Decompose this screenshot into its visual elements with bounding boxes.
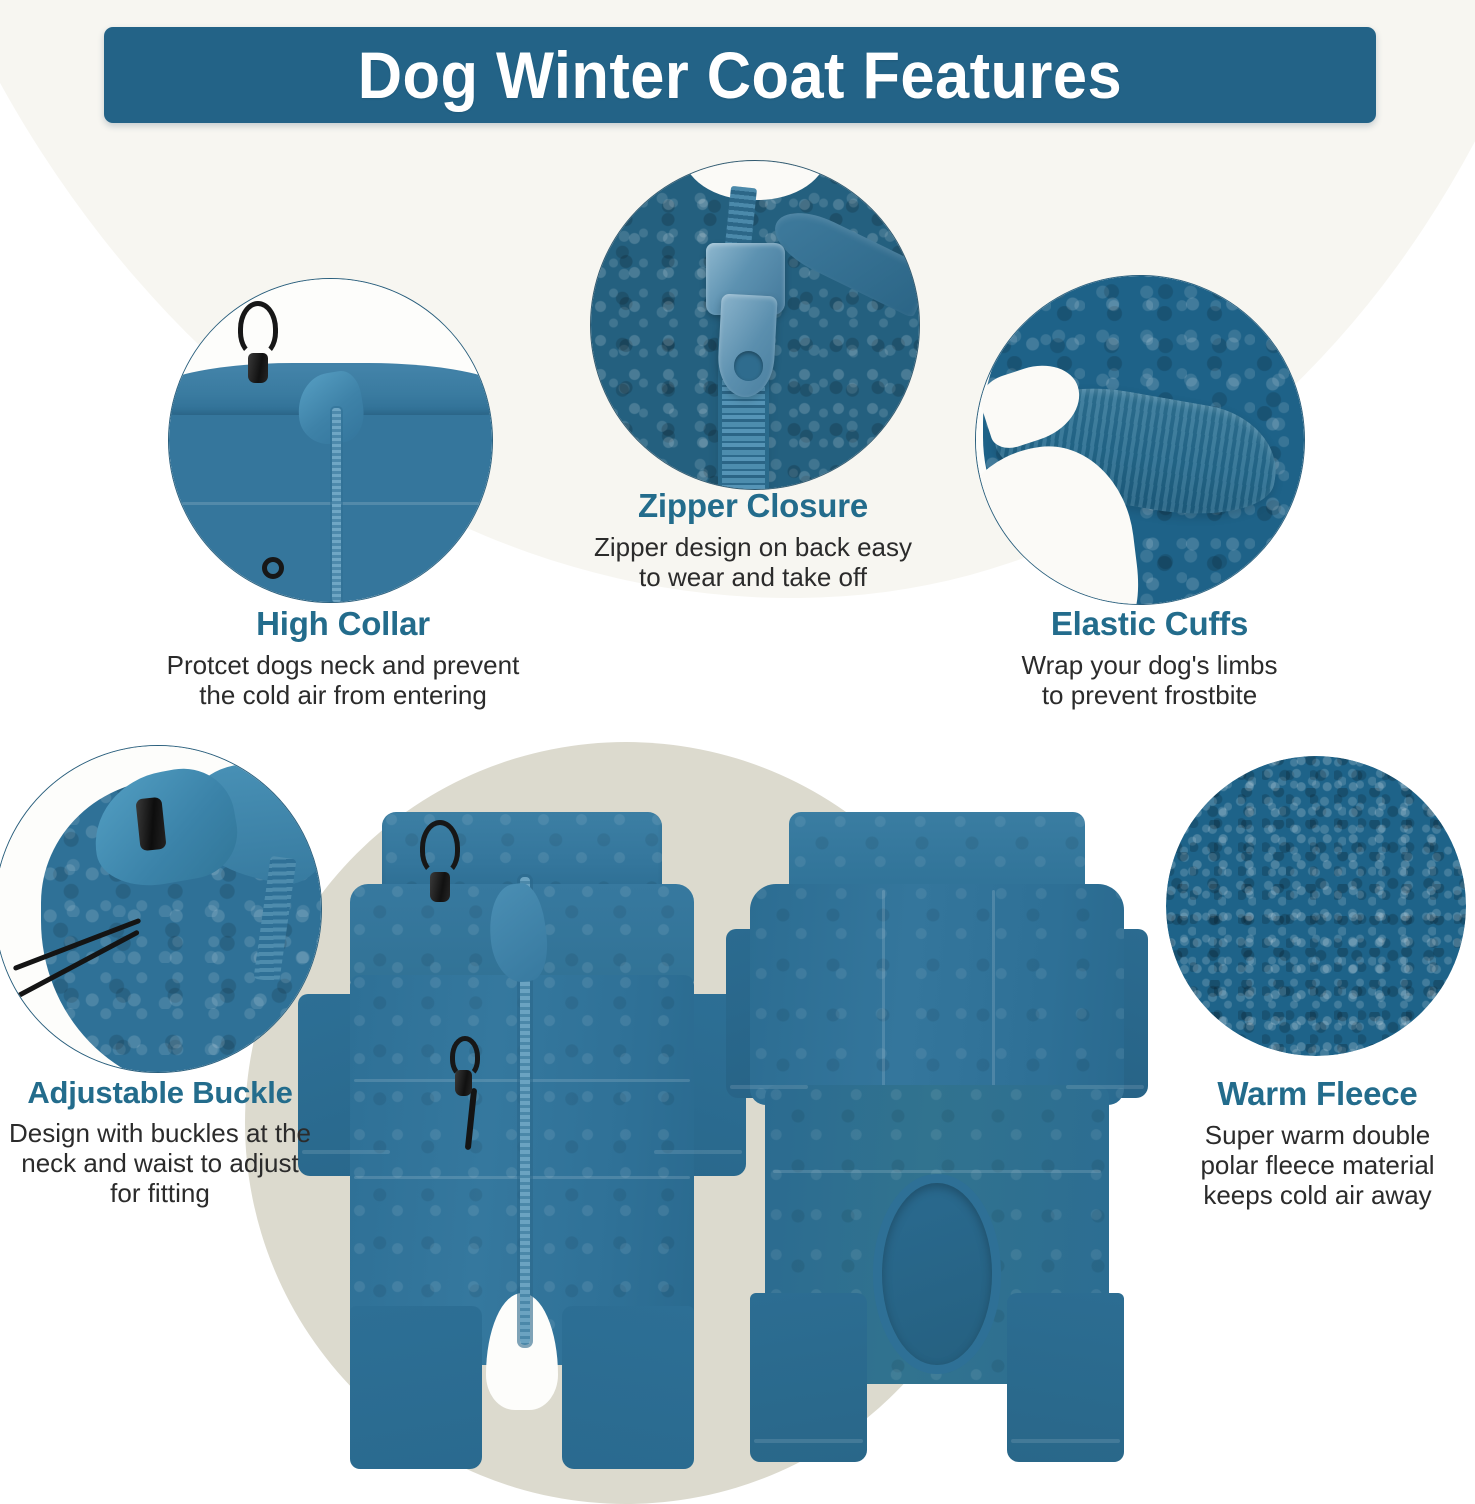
neck-cord-lock-toggle <box>430 872 450 902</box>
feature-desc-line-2: neck and waist to adjust <box>4 1148 316 1178</box>
zipper-track-icon <box>332 408 341 602</box>
feature-image-high-collar <box>168 278 493 603</box>
feature-desc-line-2: to prevent frostbite <box>962 680 1337 710</box>
back-left-cuff-line <box>730 1085 808 1089</box>
back-seam-right <box>992 890 995 1098</box>
lower-cord-loop <box>262 557 284 579</box>
feature-image-warm-fleece <box>1166 756 1466 1056</box>
feature-desc-line-3: for fitting <box>4 1178 316 1208</box>
front-left-leg <box>350 1306 482 1469</box>
back-right-leg-cuff <box>1011 1439 1120 1443</box>
feature-title-warm-fleece: Warm Fleece <box>1160 1075 1475 1113</box>
feature-title-zipper-closure: Zipper Closure <box>548 487 958 525</box>
zipper-pull-hole <box>734 351 764 381</box>
collar-seam <box>182 502 479 505</box>
neck-drawstring-loop <box>420 820 460 876</box>
back-seam-left <box>882 890 885 1098</box>
feature-desc-line-1: Design with buckles at the <box>4 1118 316 1148</box>
back-right-cuff-line <box>1066 1085 1144 1089</box>
front-right-leg <box>562 1306 694 1469</box>
feature-title-adjustable-buckle: Adjustable Buckle <box>4 1075 316 1111</box>
page-title: Dog Winter Coat Features <box>358 37 1122 113</box>
back-left-leg <box>750 1293 867 1462</box>
back-rear-opening <box>882 1183 991 1365</box>
feature-desc-line-2: the cold air from entering <box>133 680 553 710</box>
back-shoulder-panel <box>750 884 1124 1105</box>
feature-title-elastic-cuffs: Elastic Cuffs <box>962 605 1337 643</box>
back-waist-seam <box>773 1170 1101 1173</box>
fleece-texture-photo <box>1166 756 1466 1056</box>
feature-desc-line-2: polar fleece material <box>1160 1150 1475 1180</box>
feature-desc-line-1: Super warm double <box>1160 1120 1475 1150</box>
caption-high-collar: High Collar Protcet dogs neck and preven… <box>133 605 553 710</box>
waist-cord-lock-toggle <box>455 1070 472 1096</box>
feature-desc-line-3: keeps cold air away <box>1160 1180 1475 1210</box>
feature-image-elastic-cuffs <box>975 275 1305 605</box>
feature-image-adjustable-buckle <box>0 745 322 1073</box>
feature-desc-line-1: Zipper design on back easy <box>548 532 958 562</box>
back-left-leg-cuff <box>754 1439 863 1443</box>
feature-title-high-collar: High Collar <box>133 605 553 643</box>
feature-desc-line-1: Protcet dogs neck and prevent <box>133 650 553 680</box>
front-right-cuff-line <box>654 1150 742 1154</box>
cord-lock-toggle <box>248 353 268 383</box>
feature-desc-line-1: Wrap your dog's limbs <box>962 650 1337 680</box>
caption-adjustable-buckle: Adjustable Buckle Design with buckles at… <box>4 1075 316 1208</box>
caption-zipper-closure: Zipper Closure Zipper design on back eas… <box>548 487 958 592</box>
feature-desc-line-2: to wear and take off <box>548 562 958 592</box>
dog-coat-front-view-photo <box>322 812 722 1462</box>
feature-image-zipper-closure <box>590 160 920 490</box>
caption-warm-fleece: Warm Fleece Super warm double polar flee… <box>1160 1075 1475 1210</box>
collar-closeup-photo <box>169 279 492 602</box>
dog-coat-back-view-photo <box>742 812 1132 1462</box>
title-banner: Dog Winter Coat Features <box>104 27 1376 123</box>
caption-elastic-cuffs: Elastic Cuffs Wrap your dog's limbs to p… <box>962 605 1337 710</box>
drawstring-cord-loop <box>238 301 278 357</box>
back-right-leg <box>1007 1293 1124 1462</box>
